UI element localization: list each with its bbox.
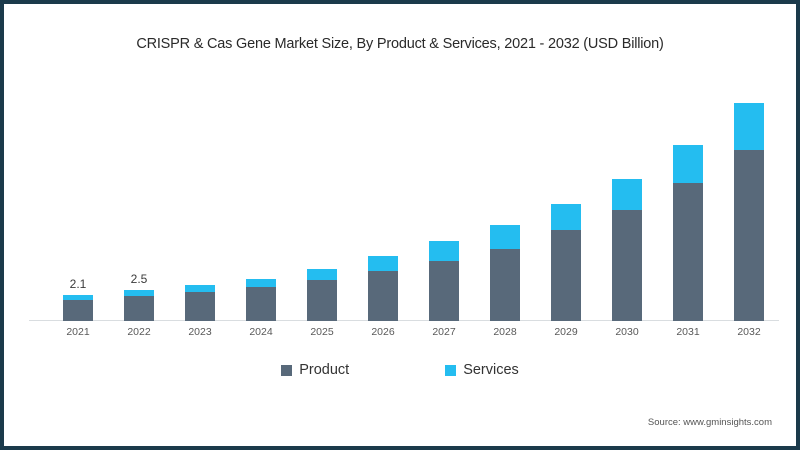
x-tick-2028: 2028 (475, 326, 535, 338)
x-tick-2024: 2024 (231, 326, 291, 338)
bar-segment-product-2021[interactable] (63, 300, 93, 321)
x-tick-2029: 2029 (536, 326, 596, 338)
bar-segment-product-2030[interactable] (612, 210, 642, 321)
bar-segment-product-2022[interactable] (124, 296, 154, 321)
bar-value-label-2021: 2.1 (70, 277, 87, 291)
bar-group-2031[interactable] (673, 145, 703, 321)
bar-segment-services-2025[interactable] (307, 269, 337, 280)
bar-group-2032[interactable] (734, 103, 764, 321)
legend-label-services: Services (463, 362, 519, 378)
legend-swatch-icon-product (281, 365, 292, 376)
bar-group-2023[interactable] (185, 285, 215, 321)
x-tick-2030: 2030 (597, 326, 657, 338)
x-tick-2022: 2022 (109, 326, 169, 338)
bar-segment-product-2031[interactable] (673, 183, 703, 321)
bar-group-2028[interactable] (490, 225, 520, 321)
bar-group-2027[interactable] (429, 241, 459, 321)
chart-title: CRISPR & Cas Gene Market Size, By Produc… (4, 36, 796, 52)
legend-item-product[interactable]: Product (281, 362, 349, 378)
legend-label-product: Product (299, 362, 349, 378)
x-tick-2027: 2027 (414, 326, 474, 338)
bar-segment-product-2028[interactable] (490, 249, 520, 321)
bar-segment-services-2024[interactable] (246, 279, 276, 288)
legend-swatch-icon-services (445, 365, 456, 376)
chart-canvas: CRISPR & Cas Gene Market Size, By Produc… (4, 4, 796, 446)
bar-group-2026[interactable] (368, 256, 398, 321)
bar-segment-services-2028[interactable] (490, 225, 520, 249)
bar-segment-services-2030[interactable] (612, 179, 642, 210)
bar-segment-product-2032[interactable] (734, 150, 764, 321)
source-attribution: Source: www.gminsights.com (648, 417, 772, 428)
chart-legend: ProductServices (4, 362, 796, 378)
bar-segment-product-2025[interactable] (307, 280, 337, 321)
x-tick-2023: 2023 (170, 326, 230, 338)
x-tick-2021: 2021 (48, 326, 108, 338)
bar-group-2021[interactable]: 2.1 (63, 295, 93, 321)
x-tick-2025: 2025 (292, 326, 352, 338)
bar-group-2030[interactable] (612, 179, 642, 321)
bar-segment-product-2024[interactable] (246, 287, 276, 321)
x-tick-2031: 2031 (658, 326, 718, 338)
bar-group-2029[interactable] (551, 204, 581, 321)
bar-group-2024[interactable] (246, 279, 276, 321)
x-tick-2032: 2032 (719, 326, 779, 338)
x-axis-tick-labels: 2021202220232024202520262027202820292030… (29, 326, 779, 344)
bar-segment-services-2022[interactable] (124, 290, 154, 296)
bar-segment-product-2027[interactable] (429, 261, 459, 321)
legend-item-services[interactable]: Services (445, 362, 519, 378)
x-tick-2026: 2026 (353, 326, 413, 338)
bar-segment-services-2031[interactable] (673, 145, 703, 182)
bar-segment-product-2029[interactable] (551, 230, 581, 321)
chart-frame: CRISPR & Cas Gene Market Size, By Produc… (0, 0, 800, 450)
bar-segment-services-2026[interactable] (368, 256, 398, 271)
bar-segment-product-2023[interactable] (185, 292, 215, 321)
bar-group-2025[interactable] (307, 269, 337, 321)
bar-segment-product-2026[interactable] (368, 271, 398, 321)
bar-group-2022[interactable]: 2.5 (124, 290, 154, 321)
bar-segment-services-2021[interactable] (63, 295, 93, 300)
bar-value-label-2022: 2.5 (131, 272, 148, 286)
bar-segment-services-2029[interactable] (551, 204, 581, 230)
bar-segment-services-2023[interactable] (185, 285, 215, 292)
bar-segment-services-2027[interactable] (429, 241, 459, 261)
bar-segment-services-2032[interactable] (734, 103, 764, 150)
plot-area: 2.12.5 (29, 84, 779, 321)
